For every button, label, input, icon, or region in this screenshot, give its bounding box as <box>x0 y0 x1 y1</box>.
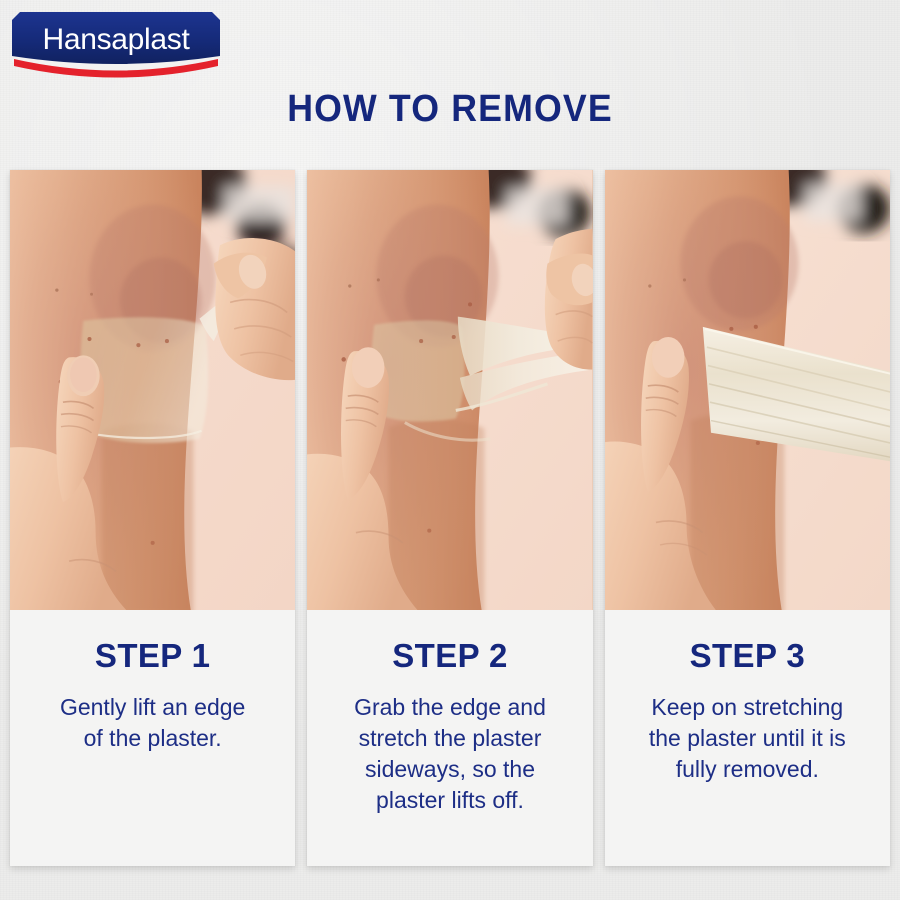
step-3-caption: STEP 3 Keep on stretching the plaster un… <box>605 610 890 866</box>
step-card-2: STEP 2 Grab the edge and stretch the pla… <box>307 170 592 866</box>
logo-wordmark: Hansaplast <box>12 23 220 57</box>
steps-container: STEP 1 Gently lift an edge of the plaste… <box>10 170 890 866</box>
step-2-photo <box>307 170 592 610</box>
step-2-photo-illustration <box>307 170 592 610</box>
step-1-photo-illustration <box>10 170 295 610</box>
step-1-body: Gently lift an edge of the plaster. <box>46 692 259 754</box>
step-3-body: Keep on stretching the plaster until it … <box>635 692 860 785</box>
step-3-title: STEP 3 <box>690 636 806 676</box>
page-title: HOW TO REMOVE <box>27 88 873 131</box>
step-card-1: STEP 1 Gently lift an edge of the plaste… <box>10 170 295 866</box>
step-1-title: STEP 1 <box>95 636 211 676</box>
step-card-3: STEP 3 Keep on stretching the plaster un… <box>605 170 890 866</box>
step-3-photo <box>605 170 890 610</box>
step-2-body: Grab the edge and stretch the plaster si… <box>340 692 560 816</box>
step-2-caption: STEP 2 Grab the edge and stretch the pla… <box>307 610 592 866</box>
step-1-photo <box>10 170 295 610</box>
step-3-photo-illustration <box>605 170 890 610</box>
hansaplast-logo: Hansaplast <box>12 12 220 78</box>
step-2-title: STEP 2 <box>392 636 508 676</box>
step-1-caption: STEP 1 Gently lift an edge of the plaste… <box>10 610 295 866</box>
